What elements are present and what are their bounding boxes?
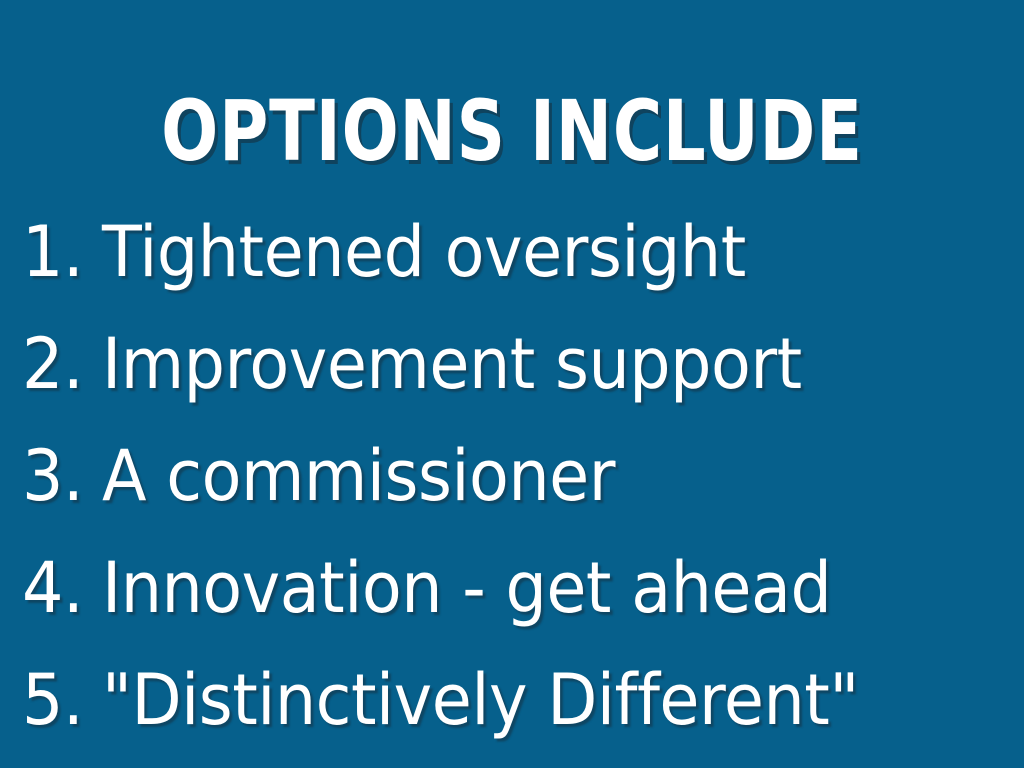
list-item-number: 5. [22, 644, 102, 756]
presentation-slide: OPTIONS INCLUDE 1. Tightened oversight 2… [0, 0, 1024, 768]
list-item-number: 3. [22, 420, 102, 532]
list-item: 2. Improvement support [22, 308, 943, 420]
slide-title: OPTIONS INCLUDE [102, 86, 921, 176]
list-item: 5. "Distinctively Different" [22, 644, 943, 756]
list-item-label: Tightened oversight [102, 196, 746, 308]
list-item-label: A commissioner [102, 420, 615, 532]
options-list: 1. Tightened oversight 2. Improvement su… [22, 196, 1012, 756]
list-item-label: Innovation - get ahead [102, 532, 831, 644]
list-item: 4. Innovation - get ahead [22, 532, 943, 644]
list-item: 1. Tightened oversight [22, 196, 943, 308]
list-item-number: 1. [22, 196, 102, 308]
list-item-number: 2. [22, 308, 102, 420]
list-item: 3. A commissioner [22, 420, 943, 532]
list-item-number: 4. [22, 532, 102, 644]
list-item-label: "Distinctively Different" [102, 644, 859, 756]
list-item-label: Improvement support [102, 308, 802, 420]
